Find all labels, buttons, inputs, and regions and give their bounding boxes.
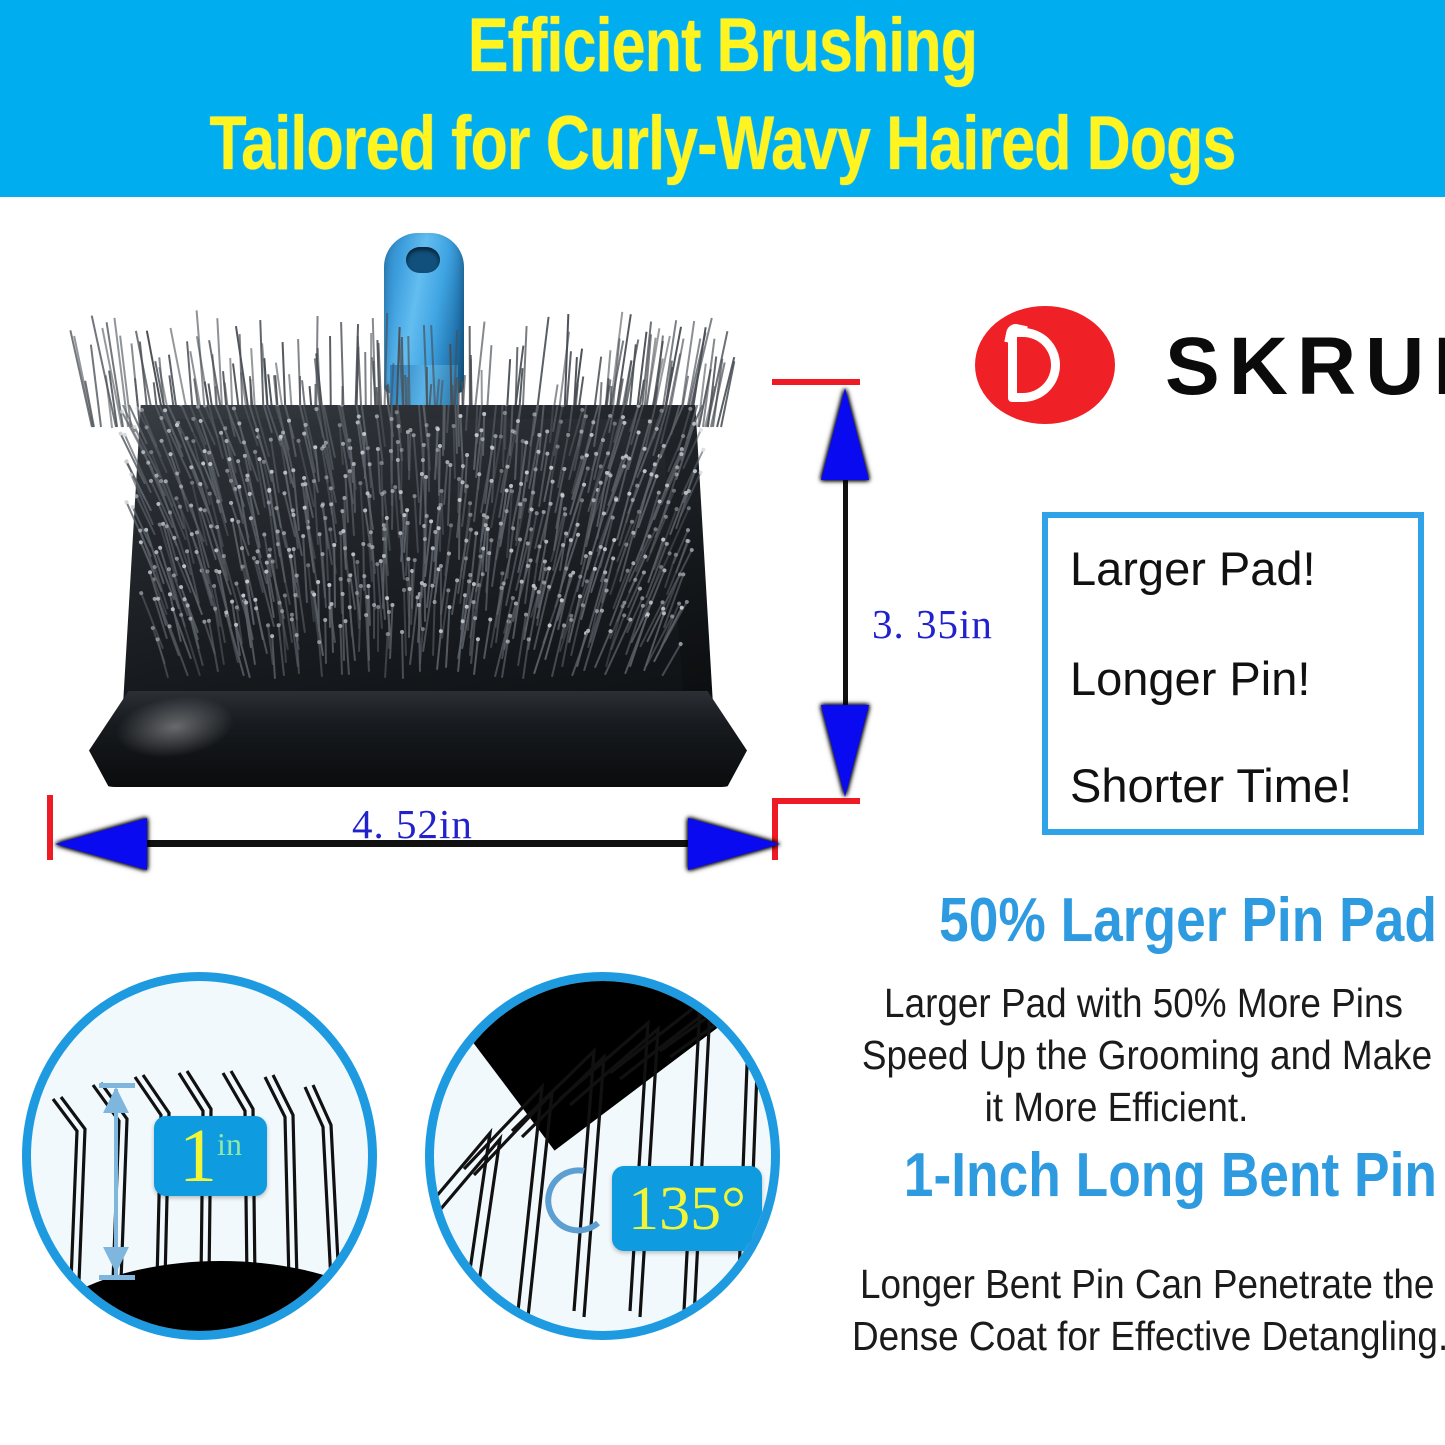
inset-1-arrow-up bbox=[103, 1087, 129, 1113]
width-arrow-right bbox=[688, 818, 780, 870]
pin-angle-inset: 135° bbox=[425, 972, 780, 1340]
height-arrow-up bbox=[821, 388, 869, 480]
feature-2-heading: 1-Inch Long Bent Pin bbox=[904, 1140, 1437, 1211]
handle-hang-hole bbox=[406, 247, 440, 273]
feature-2-body-line-2: Dense Coat for Effective Detangling. bbox=[852, 1310, 1437, 1362]
feature-2-body-line-1: Longer Bent Pin Can Penetrate the bbox=[860, 1258, 1427, 1310]
product-photo bbox=[35, 215, 795, 815]
inset-2-badge: 135° bbox=[612, 1166, 762, 1251]
banner-headline-1: Efficient Brushing bbox=[145, 6, 1301, 86]
inset-1-badge-value: 1 bbox=[179, 1118, 217, 1194]
height-dimension-label: 3. 35in bbox=[872, 600, 993, 648]
feature-highlight-box: Larger Pad! Longer Pin! Shorter Time! bbox=[1042, 512, 1424, 835]
pin-length-inset: 1 in bbox=[22, 972, 377, 1340]
inset-2-badge-value: 135° bbox=[628, 1178, 746, 1240]
brand-name: SKRUI bbox=[1165, 320, 1445, 414]
feature-1-body-line-2: Speed Up the Grooming and Make bbox=[859, 1029, 1435, 1081]
width-dimension-label: 4. 52in bbox=[352, 800, 473, 848]
logo-letter-d-tail-icon bbox=[1004, 322, 1028, 346]
inset-1-arrow-down bbox=[103, 1247, 129, 1273]
inset-1-badge-unit: in bbox=[217, 1126, 242, 1163]
inset-1-bottom-cap bbox=[99, 1275, 135, 1280]
feature-box-item-2: Longer Pin! bbox=[1070, 654, 1310, 704]
feature-1-body-line-3: it More Efficient. bbox=[968, 1081, 1265, 1133]
width-left-marker bbox=[47, 795, 53, 860]
header-banner: Efficient Brushing Tailored for Curly-Wa… bbox=[0, 0, 1445, 197]
banner-headline-2: Tailored for Curly-Wavy Haired Dogs bbox=[145, 104, 1301, 184]
feature-box-item-3: Shorter Time! bbox=[1070, 761, 1352, 811]
inset-1-badge: 1 in bbox=[154, 1116, 267, 1196]
height-top-marker bbox=[772, 379, 860, 385]
brand-logo: SKRUI bbox=[975, 306, 1445, 426]
feature-1-heading: 50% Larger Pin Pad bbox=[939, 885, 1437, 956]
height-bottom-marker-h bbox=[772, 798, 860, 804]
pin-field bbox=[113, 405, 713, 705]
bent-pin-diagram-2 bbox=[434, 981, 771, 1331]
feature-1-body-line-1: Larger Pad with 50% More Pins bbox=[860, 977, 1427, 1029]
feature-box-item-1: Larger Pad! bbox=[1070, 544, 1316, 594]
width-arrow-left bbox=[55, 818, 147, 870]
logo-mark-circle bbox=[975, 306, 1115, 424]
height-arrow-down bbox=[821, 705, 869, 797]
